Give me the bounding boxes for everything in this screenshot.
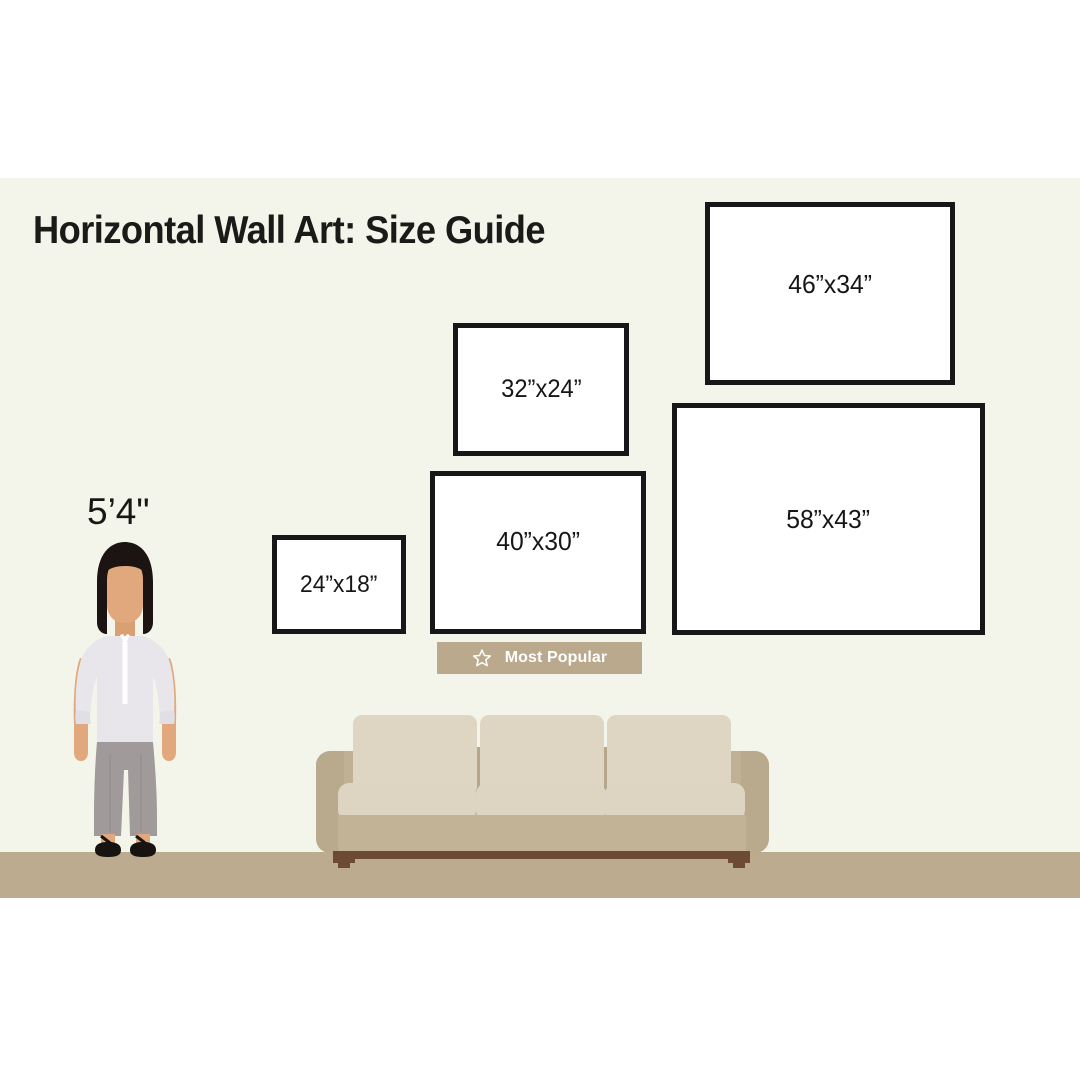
most-popular-badge[interactable]: Most Popular — [437, 642, 642, 674]
most-popular-label: Most Popular — [505, 649, 608, 667]
frame-40x30[interactable]: 40”x30” — [430, 471, 646, 634]
size-guide-canvas: Horizontal Wall Art: Size Guide 5’4" — [0, 0, 1080, 1080]
frame-46x34[interactable]: 46”x34” — [705, 202, 955, 385]
page-title: Horizontal Wall Art: Size Guide — [33, 209, 545, 253]
frame-58x43[interactable]: 58”x43” — [672, 403, 985, 635]
frame-24x18-label: 24”x18” — [300, 571, 377, 599]
frame-32x24-label: 32”x24” — [501, 375, 582, 404]
frame-32x24[interactable]: 32”x24” — [453, 323, 629, 456]
frame-24x18[interactable]: 24”x18” — [272, 535, 406, 634]
person-figure — [60, 538, 190, 862]
star-icon — [472, 648, 492, 668]
sofa — [310, 703, 775, 868]
room-scene: Horizontal Wall Art: Size Guide 5’4" — [0, 178, 1080, 898]
frame-40x30-label: 40”x30” — [496, 526, 580, 557]
person-height-label: 5’4" — [87, 491, 150, 533]
frame-58x43-label: 58”x43” — [787, 504, 871, 535]
frame-46x34-label: 46”x34” — [788, 269, 872, 300]
